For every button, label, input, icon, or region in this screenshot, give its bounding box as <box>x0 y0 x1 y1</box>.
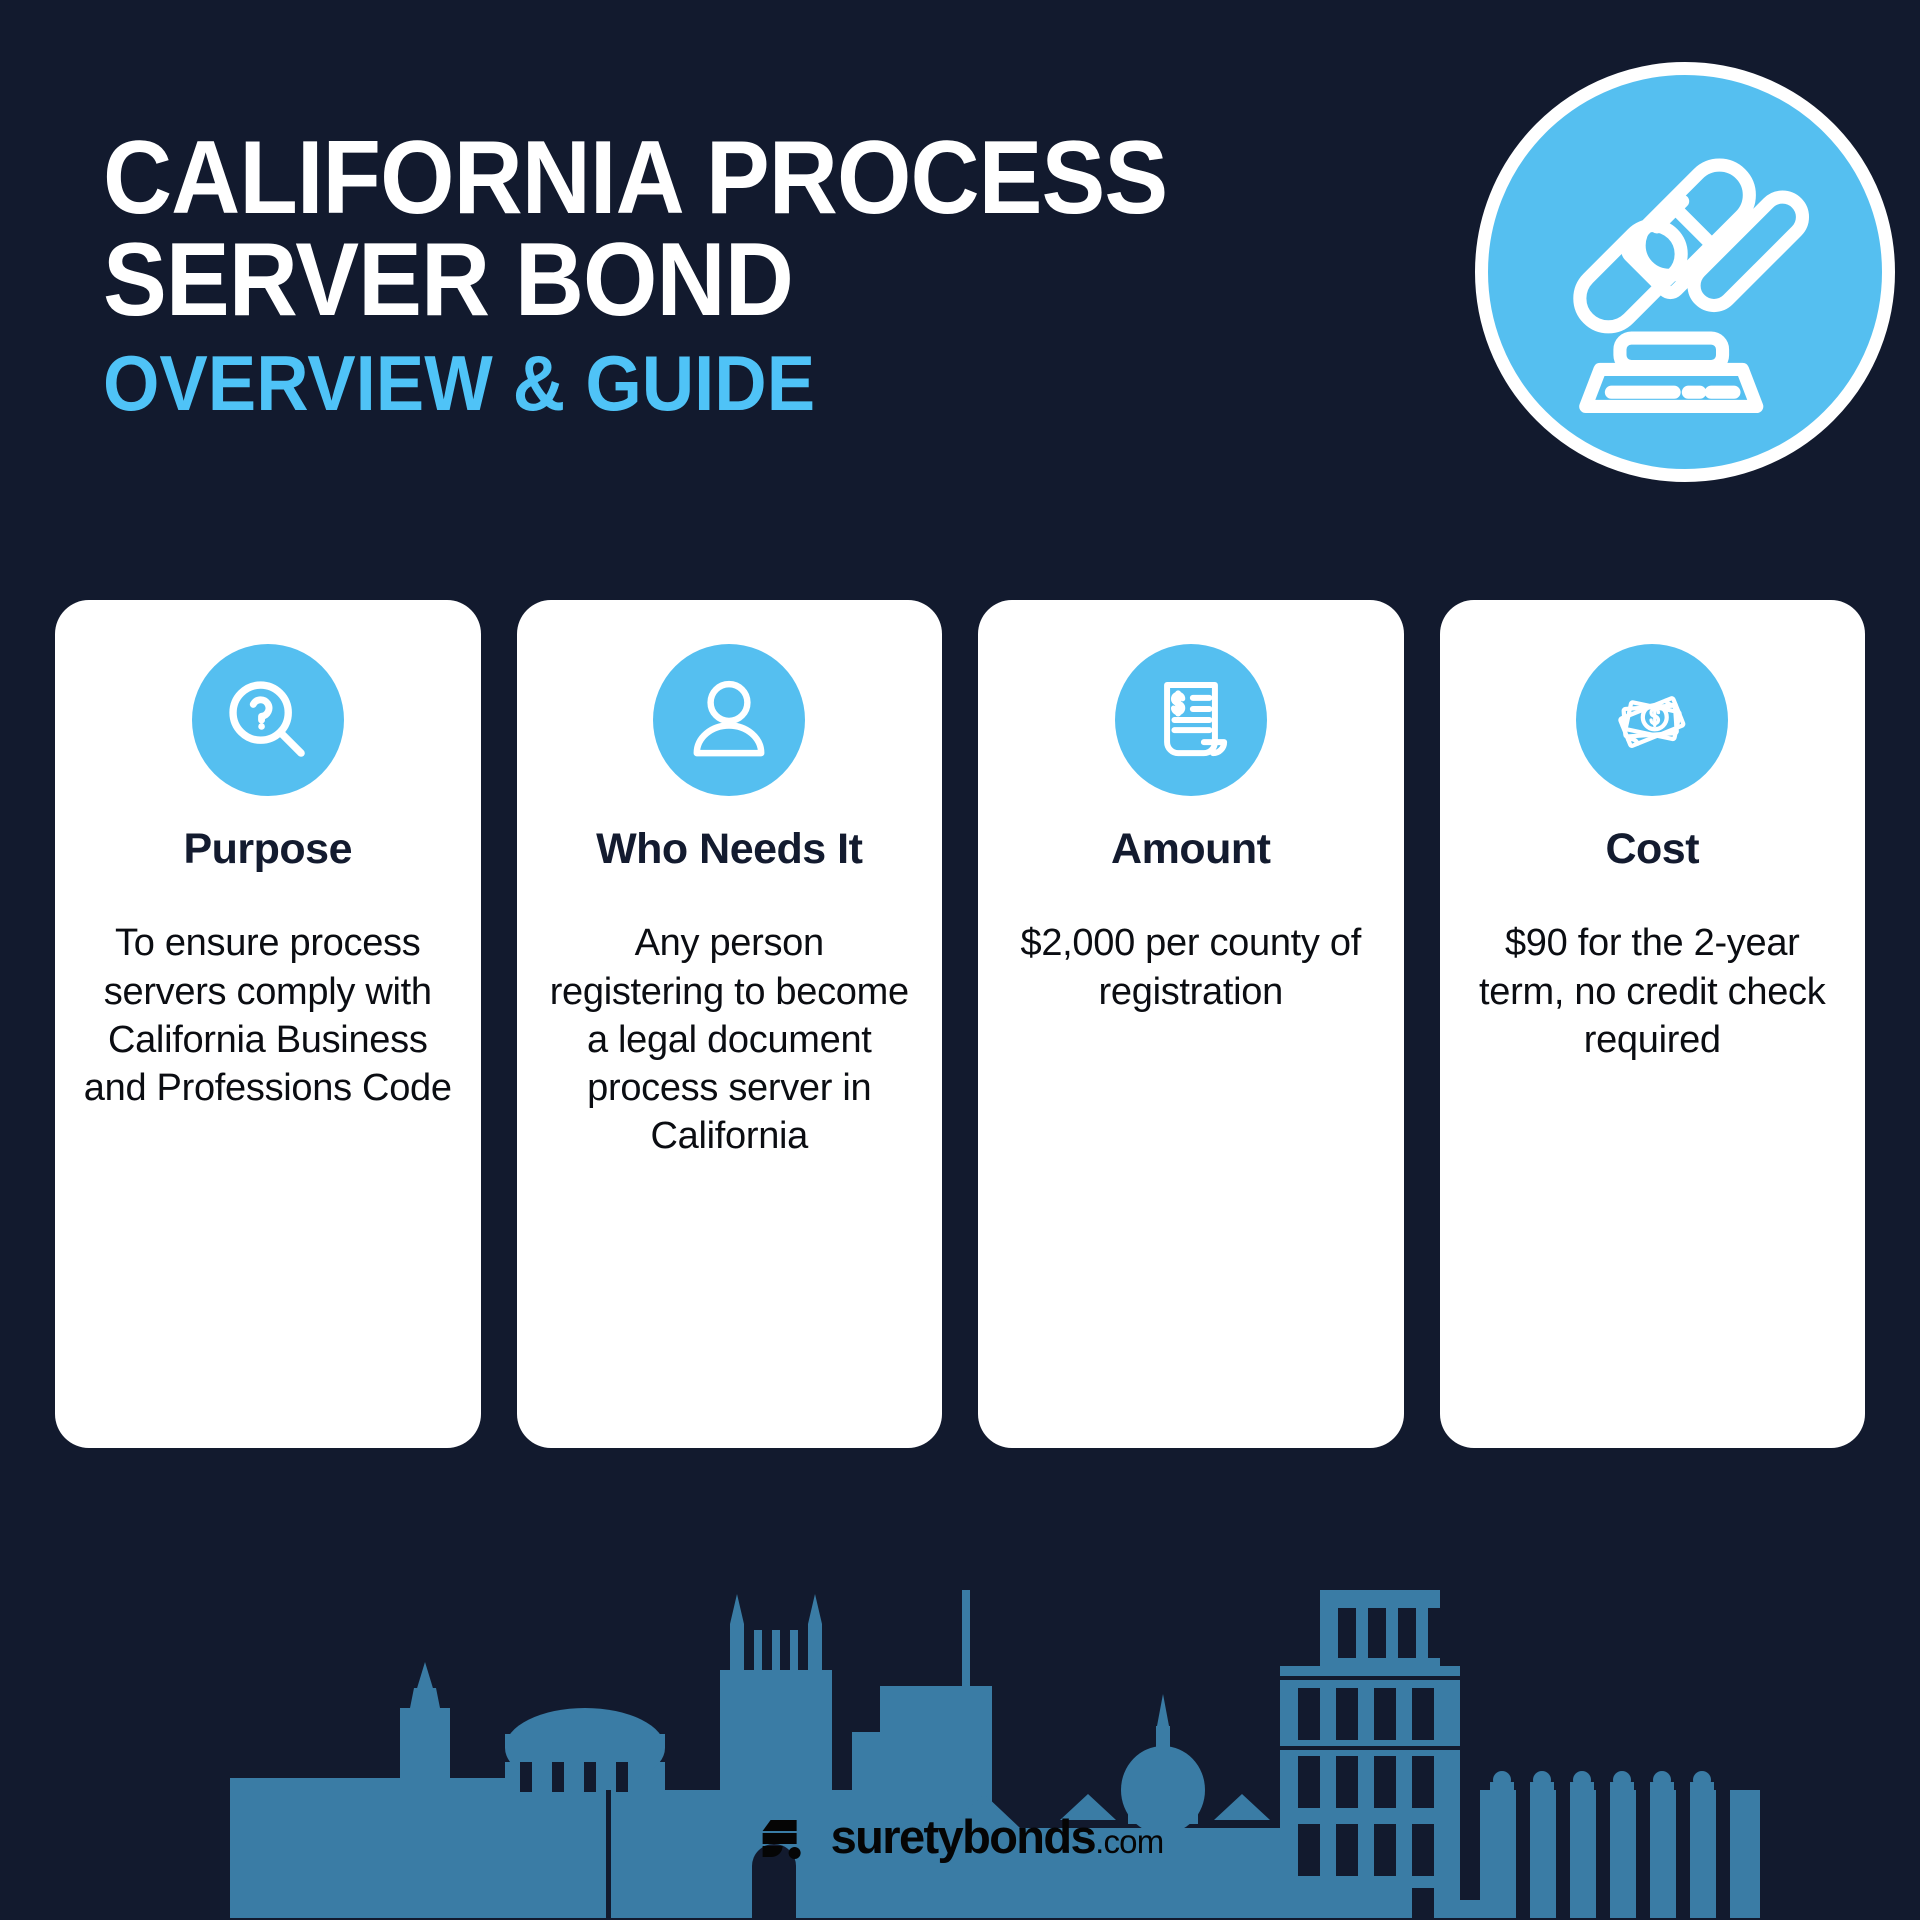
card-body: To ensure process servers comply with Ca… <box>81 919 455 1112</box>
info-card-list: Purpose To ensure process servers comply… <box>55 600 1865 1448</box>
invoice-document-icon <box>1145 674 1237 766</box>
card-purpose: Purpose To ensure process servers comply… <box>55 600 481 1448</box>
header: CALIFORNIA PROCESS SERVER BOND OVERVIEW … <box>0 0 1920 600</box>
card-title: Cost <box>1605 826 1699 873</box>
page-subtitle: OVERVIEW & GUIDE <box>103 342 1368 425</box>
gavel-icon <box>1543 130 1828 415</box>
page-title-line-2: SERVER BOND <box>103 230 1354 332</box>
card-body: $90 for the 2-year term, no credit check… <box>1466 919 1840 1064</box>
card-title: Who Needs It <box>596 826 862 873</box>
suretybonds-logo[interactable]: suretybonds.com <box>757 1808 1164 1864</box>
card-icon-circle <box>1115 644 1267 796</box>
logo-name: suretybonds <box>831 1810 1095 1863</box>
card-who-needs-it: Who Needs It Any person registering to b… <box>517 600 943 1448</box>
card-title: Purpose <box>183 826 352 873</box>
card-icon-circle <box>192 644 344 796</box>
page-title-line-1: CALIFORNIA PROCESS <box>103 128 1354 230</box>
title-block: CALIFORNIA PROCESS SERVER BOND OVERVIEW … <box>103 128 1463 424</box>
card-title: Amount <box>1111 826 1270 873</box>
gavel-badge <box>1475 62 1895 482</box>
card-cost: Cost $90 for the 2-year term, no credit … <box>1440 600 1866 1448</box>
card-body: Any person registering to become a legal… <box>543 919 917 1160</box>
card-body: $2,000 per county of registration <box>1004 919 1378 1016</box>
card-icon-circle <box>653 644 805 796</box>
logo-tld: .com <box>1095 1823 1163 1860</box>
card-icon-circle <box>1576 644 1728 796</box>
magnifier-question-icon <box>222 674 314 766</box>
person-icon <box>683 674 775 766</box>
suretybonds-mark-icon <box>757 1808 813 1864</box>
cash-money-icon <box>1606 674 1698 766</box>
logo-wordmark: suretybonds.com <box>831 1813 1164 1860</box>
card-amount: Amount $2,000 per county of registration <box>978 600 1404 1448</box>
